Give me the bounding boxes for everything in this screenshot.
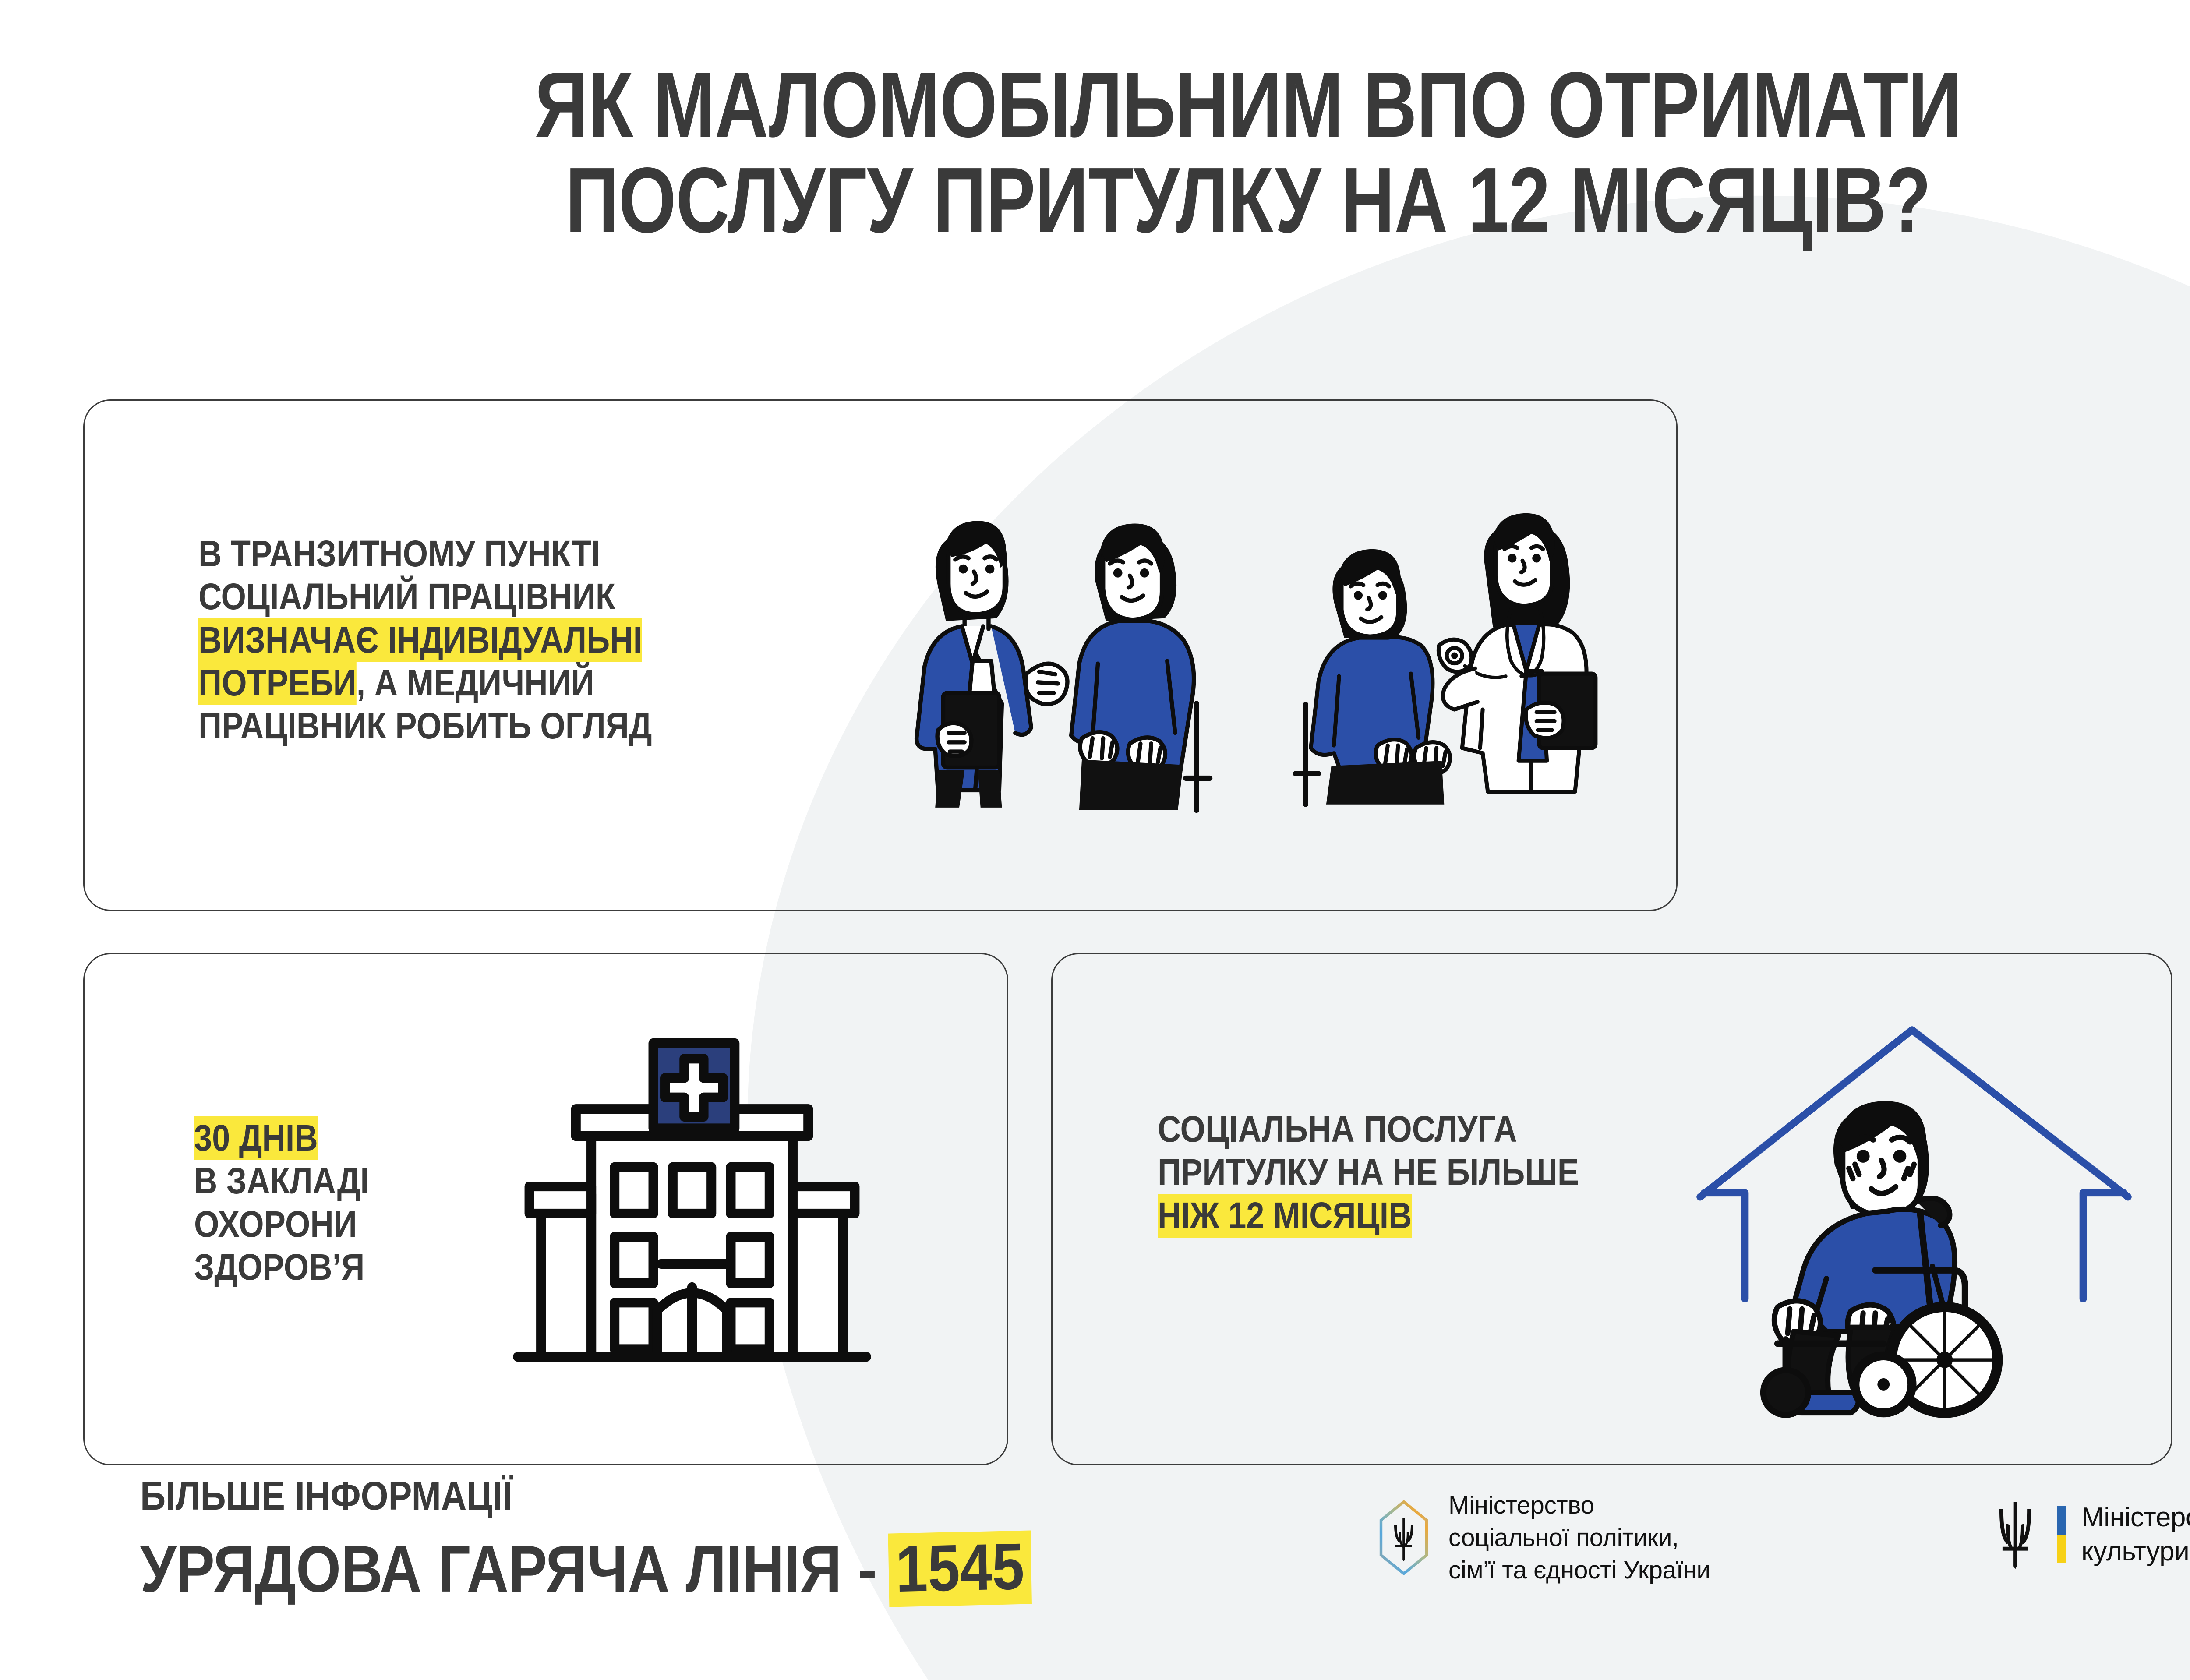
ukraine-trident-icon <box>1989 1498 2042 1571</box>
ministry-culture-name: Міністерство культури України <box>2081 1500 2190 1569</box>
ministry-social-policy-name: Міністерство соціальної політики, сім’ї … <box>1448 1489 1710 1586</box>
footer-contact-block: БІЛЬШЕ ІНФОРМАЦІЇ УРЯДОВА ГАРЯЧА ЛІНІЯ -… <box>140 1476 1152 1606</box>
hotline-label: УРЯДОВА ГАРЯЧА ЛІНІЯ - <box>140 1536 877 1602</box>
more-info-label: БІЛЬШЕ ІНФОРМАЦІЇ <box>140 1476 1031 1516</box>
person-in-wheelchair-under-house-illustration <box>1678 981 2151 1419</box>
highlighted-phrase: 30 ДНІВ <box>194 1116 318 1160</box>
hotline-number[interactable]: 1545 <box>888 1530 1031 1607</box>
ukraine-trident-hexagon-icon <box>1378 1499 1430 1576</box>
body-phrase: В ТРАНЗИТНОМУ ПУНКТІ СОЦІАЛЬНИЙ ПРАЦІВНИ… <box>198 533 615 617</box>
page-title: ЯК МАЛОМОБІЛЬНИМ ВПО ОТРИМАТИ ПОСЛУГУ ПР… <box>250 57 2190 248</box>
card-2-text: 30 ДНІВ В ЗАКЛАДІ ОХОРОНИ ЗДОРОВ’Я <box>194 1116 541 1288</box>
infographic-poster: ЯК МАЛОМОБІЛЬНИМ ВПО ОТРИМАТИ ПОСЛУГУ ПР… <box>0 0 2190 1680</box>
ministry-culture-logo: Міністерство культури України <box>1989 1498 2190 1571</box>
highlighted-phrase: НІЖ 12 МІСЯЦІВ <box>1158 1194 1412 1238</box>
body-phrase: СОЦІАЛЬНА ПОСЛУГА ПРИТУЛКУ НА НЕ БІЛЬШЕ <box>1158 1108 1579 1193</box>
social-worker-consultation-illustration <box>867 504 1296 810</box>
body-phrase: В ЗАКЛАДІ ОХОРОНИ ЗДОРОВ’Я <box>194 1160 369 1288</box>
ministry-social-policy-logo: Міністерство соціальної політики, сім’ї … <box>1378 1489 1710 1586</box>
ukraine-flag-bar-icon <box>2057 1506 2066 1563</box>
hospital-building-illustration <box>495 1016 889 1384</box>
hotline-row: УРЯДОВА ГАРЯЧА ЛІНІЯ - 1545 <box>140 1532 1031 1606</box>
medical-examination-illustration <box>1288 504 1647 810</box>
